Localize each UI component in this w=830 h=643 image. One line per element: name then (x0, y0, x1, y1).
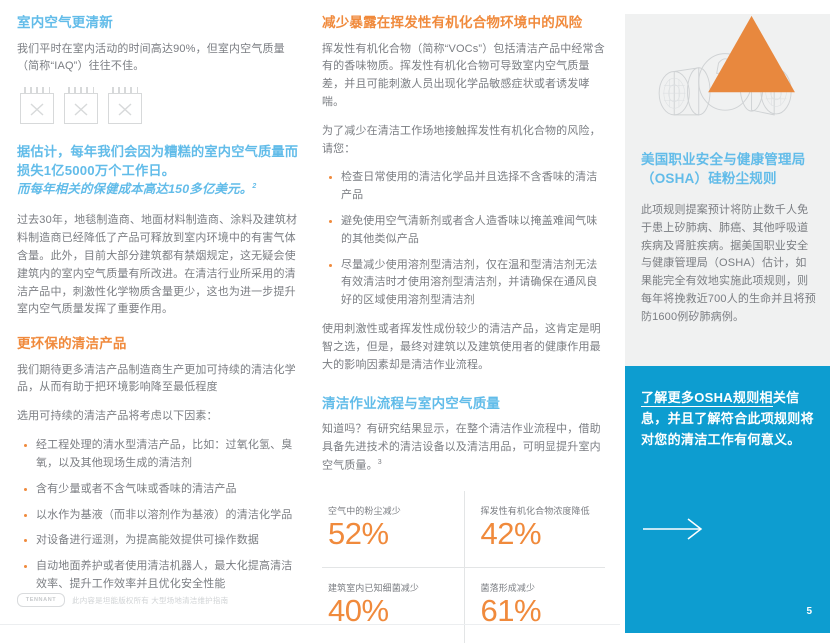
stat-value: 52% (328, 518, 458, 551)
left-pullquote: 据估计，每年我们会因为糟糕的室内空气质量而损失1亿5000万个工作日。 而每年相… (17, 143, 299, 198)
list-item: 自动地面养护或者使用清洁机器人，最大化提高清洁效率、提升工作效率并且优化安全性能 (17, 558, 299, 594)
list-item: 含有少量或者不含气味或香味的清洁产品 (17, 481, 299, 499)
mid-heading-voc-risk: 减少暴露在挥发性有机化合物环境中的风险 (322, 14, 605, 32)
pullquote-italic-text: 而每年相关的保健成本高达150多亿美元。 (17, 182, 252, 196)
arrow-right-icon[interactable] (641, 516, 713, 542)
list-item: 避免使用空气清新剂或者含人造香味以掩盖难闻气味的其他类似产品 (322, 213, 605, 249)
stat-value: 40% (328, 595, 458, 628)
pullquote-footnote-ref: 2 (252, 183, 256, 190)
left-paragraph-2: 过去30年，地毯制造商、地面材料制造商、涂料及建筑材料制造商已经降低了产品可释放… (17, 212, 299, 319)
stat-cell-voc: 挥发性有机化合物浓度降低 42% (464, 491, 606, 567)
pullquote-italic-line: 而每年相关的保健成本高达150多亿美元。2 (17, 181, 299, 199)
calendar-icon-group (20, 87, 299, 125)
left-paragraph-3: 我们期待更多清洁产品制造商生产更加可持续的清洁化学品，从而有助于把环境影响降至最… (17, 362, 299, 398)
footer-copyright-text: 此内容是坦能版权所有 大型场地清洁维护指南 (72, 595, 228, 606)
mid-paragraph-1: 挥发性有机化合物（简称“VOCs”）包括清洁产品中经常含有的香味物质。挥发性有机… (322, 41, 605, 112)
footer: TENNANT 此内容是坦能版权所有 大型场地清洁维护指南 (17, 593, 228, 607)
left-column: 室内空气更清新 我们平时在室内活动的时间高达90%，但室内空气质量（简称“IAQ… (17, 14, 299, 605)
osha-info-panel: 美国职业安全与健康管理局（OSHA）硅粉尘规则 此项规则提案预计将防止数千人免于… (625, 14, 830, 366)
mid-paragraph-4-text: 知道吗？有研究结果显示，在整个清洁作业流程中，借助具备先进技术的清洁设备以及清洁… (322, 423, 601, 471)
mid-bullet-list: 检查日常使用的清洁化学品并且选择不含香味的清洁产品 避免使用空气清新剂或者含人造… (322, 169, 605, 310)
osha-cta-link-underlined[interactable]: 了解更多OSHA规则相 (641, 390, 773, 407)
calendar-x-icon (108, 87, 144, 125)
page-number: 5 (806, 606, 812, 617)
stat-cell-dust: 空气中的粉尘减少 52% (322, 491, 464, 567)
tennant-logo: TENNANT (17, 593, 65, 607)
osha-panel-title: 美国职业安全与健康管理局（OSHA）硅粉尘规则 (641, 150, 817, 188)
list-item: 以水作为基液（而非以溶剂作为基液）的清洁化学品 (17, 507, 299, 525)
respirator-mask-icon (625, 14, 830, 146)
statistics-row: 空气中的粉尘减少 52% 挥发性有机化合物浓度降低 42% (322, 491, 605, 567)
stat-value: 42% (481, 518, 600, 551)
left-heading-green-products: 更环保的清洁产品 (17, 335, 299, 353)
x-mark-icon (20, 93, 54, 124)
list-item: 检查日常使用的清洁化学品并且选择不含香味的清洁产品 (322, 169, 605, 205)
middle-column: 减少暴露在挥发性有机化合物环境中的风险 挥发性有机化合物（简称“VOCs”）包括… (322, 14, 605, 643)
mid-paragraph-2: 为了减少在清洁工作场地接触挥发性有机化合物的风险，请您： (322, 123, 605, 159)
left-bullet-list: 经工程处理的清水型清洁产品，比如：过氧化氢、臭氧，以及其他现场生成的清洁剂 含有… (17, 437, 299, 594)
left-paragraph-1: 我们平时在室内活动的时间高达90%，但室内空气质量（简称“IAQ”）往往不佳。 (17, 41, 299, 77)
stat-label: 菌落形成减少 (481, 581, 600, 594)
pullquote-main-text: 据估计，每年我们会因为糟糕的室内空气质量而损失1亿5000万个工作日。 (17, 144, 298, 178)
left-heading-indoor-air: 室内空气更清新 (17, 14, 299, 32)
statistics-grid: 空气中的粉尘减少 52% 挥发性有机化合物浓度降低 42% 建筑室内已知细菌减少… (322, 491, 605, 643)
mid-paragraph-4: 知道吗？有研究结果显示，在整个清洁作业流程中，借助具备先进技术的清洁设备以及清洁… (322, 421, 605, 475)
calendar-x-icon (64, 87, 100, 125)
document-page: 室内空气更清新 我们平时在室内活动的时间高达90%，但室内空气质量（简称“IAQ… (0, 0, 830, 633)
left-paragraph-4: 选用可持续的清洁产品将考虑以下因素： (17, 408, 299, 426)
stat-value: 61% (481, 595, 600, 628)
osha-cta-panel[interactable]: 了解更多OSHA规则相关信息，并且了解符合此项规则将对您的清洁工作有何意义。 5 (625, 366, 830, 633)
stat-label: 建筑室内已知细菌减少 (328, 581, 458, 594)
osha-panel-body: 此项规则提案预计将防止数千人免于患上矽肺病、肺癌、其他呼吸道疾病及肾脏疾病。据美… (641, 202, 817, 327)
osha-cta-link[interactable]: 了解更多OSHA规则相关信息，并且了解符合此项规则将对您的清洁工作有何意义。 (641, 388, 817, 450)
right-sidebar: 美国职业安全与健康管理局（OSHA）硅粉尘规则 此项规则提案预计将防止数千人免于… (625, 0, 830, 633)
stat-cell-colony: 菌落形成减少 61% (464, 567, 606, 643)
x-mark-icon (108, 93, 142, 124)
list-item: 对设备进行遥测，为提高能效提供可操作数据 (17, 532, 299, 550)
mid-footnote-ref: 3 (378, 459, 382, 466)
mid-heading-cleaning-process: 清洁作业流程与室内空气质量 (322, 395, 605, 413)
stat-cell-bacteria: 建筑室内已知细菌减少 40% (322, 567, 464, 643)
mid-paragraph-3: 使用刺激性或者挥发性成份较少的清洁产品，这肯定是明智之选，但是，最终对建筑以及建… (322, 321, 605, 374)
statistics-row: 建筑室内已知细菌减少 40% 菌落形成减少 61% (322, 567, 605, 643)
x-mark-icon (64, 93, 98, 124)
footer-divider (0, 624, 620, 625)
list-item: 尽量减少使用溶剂型清洁剂，仅在温和型清洁剂无法有效清洁时才使用溶剂型清洁剂，并请… (322, 257, 605, 310)
list-item: 经工程处理的清水型清洁产品，比如：过氧化氢、臭氧，以及其他现场生成的清洁剂 (17, 437, 299, 473)
calendar-x-icon (20, 87, 56, 125)
